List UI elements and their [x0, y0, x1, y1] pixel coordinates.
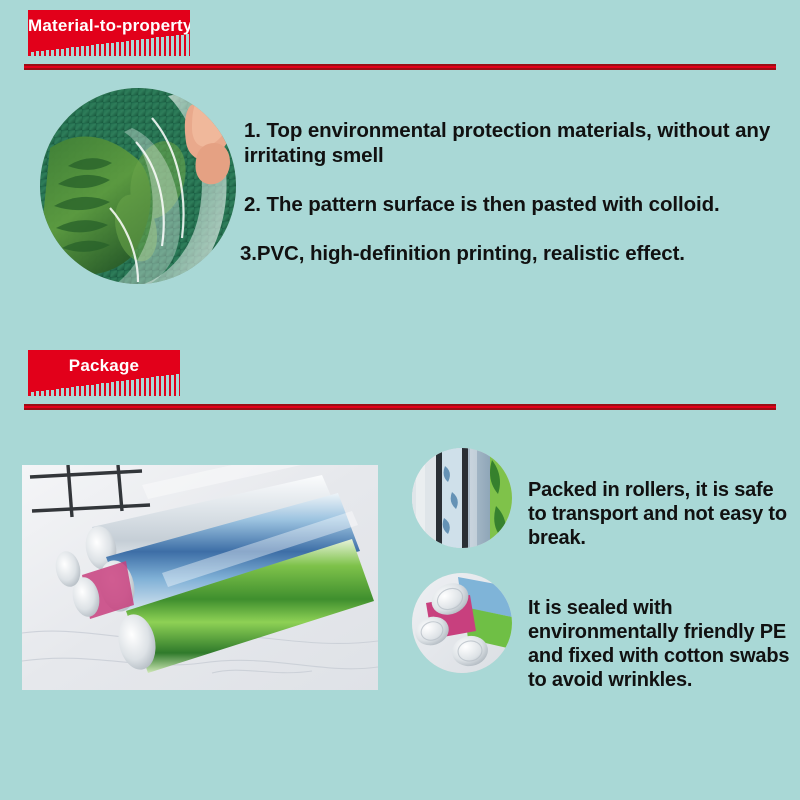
banner-fringe-material [28, 34, 190, 56]
package-text-sealed: It is sealed with environmentally friend… [528, 596, 796, 692]
photo-pe-wrapped-rolls-art [412, 448, 512, 548]
photo-wallpaper-rolls [22, 465, 378, 690]
feature-item: 3.PVC, high-definition printing, realist… [240, 241, 788, 266]
photo-pe-wrapped-rolls [412, 448, 512, 548]
banner-tag-material: Material-to-property [28, 10, 190, 56]
photo-wallpaper-rolls-art [22, 465, 378, 690]
banner-label-material: Material-to-property [28, 16, 190, 36]
feature-item: 1. Top environmental protection material… [240, 118, 788, 168]
banner-label-package: Package [28, 356, 180, 376]
package-text-transport: Packed in rollers, it is safe to transpo… [528, 478, 796, 550]
feature-item: 2. The pattern surface is then pasted wi… [240, 192, 788, 217]
photo-roll-ends-cotton-swabs-art [412, 573, 512, 673]
photo-pvc-film-peel-art [40, 88, 236, 284]
banner-rule-material [24, 64, 776, 70]
feature-list: 1. Top environmental protection material… [240, 118, 788, 266]
photo-roll-ends-cotton-swabs [412, 573, 512, 673]
banner-tag-package: Package [28, 350, 180, 396]
banner-rule-package [24, 404, 776, 410]
photo-pvc-film-peel [40, 88, 236, 284]
banner-fringe-package [28, 374, 180, 396]
